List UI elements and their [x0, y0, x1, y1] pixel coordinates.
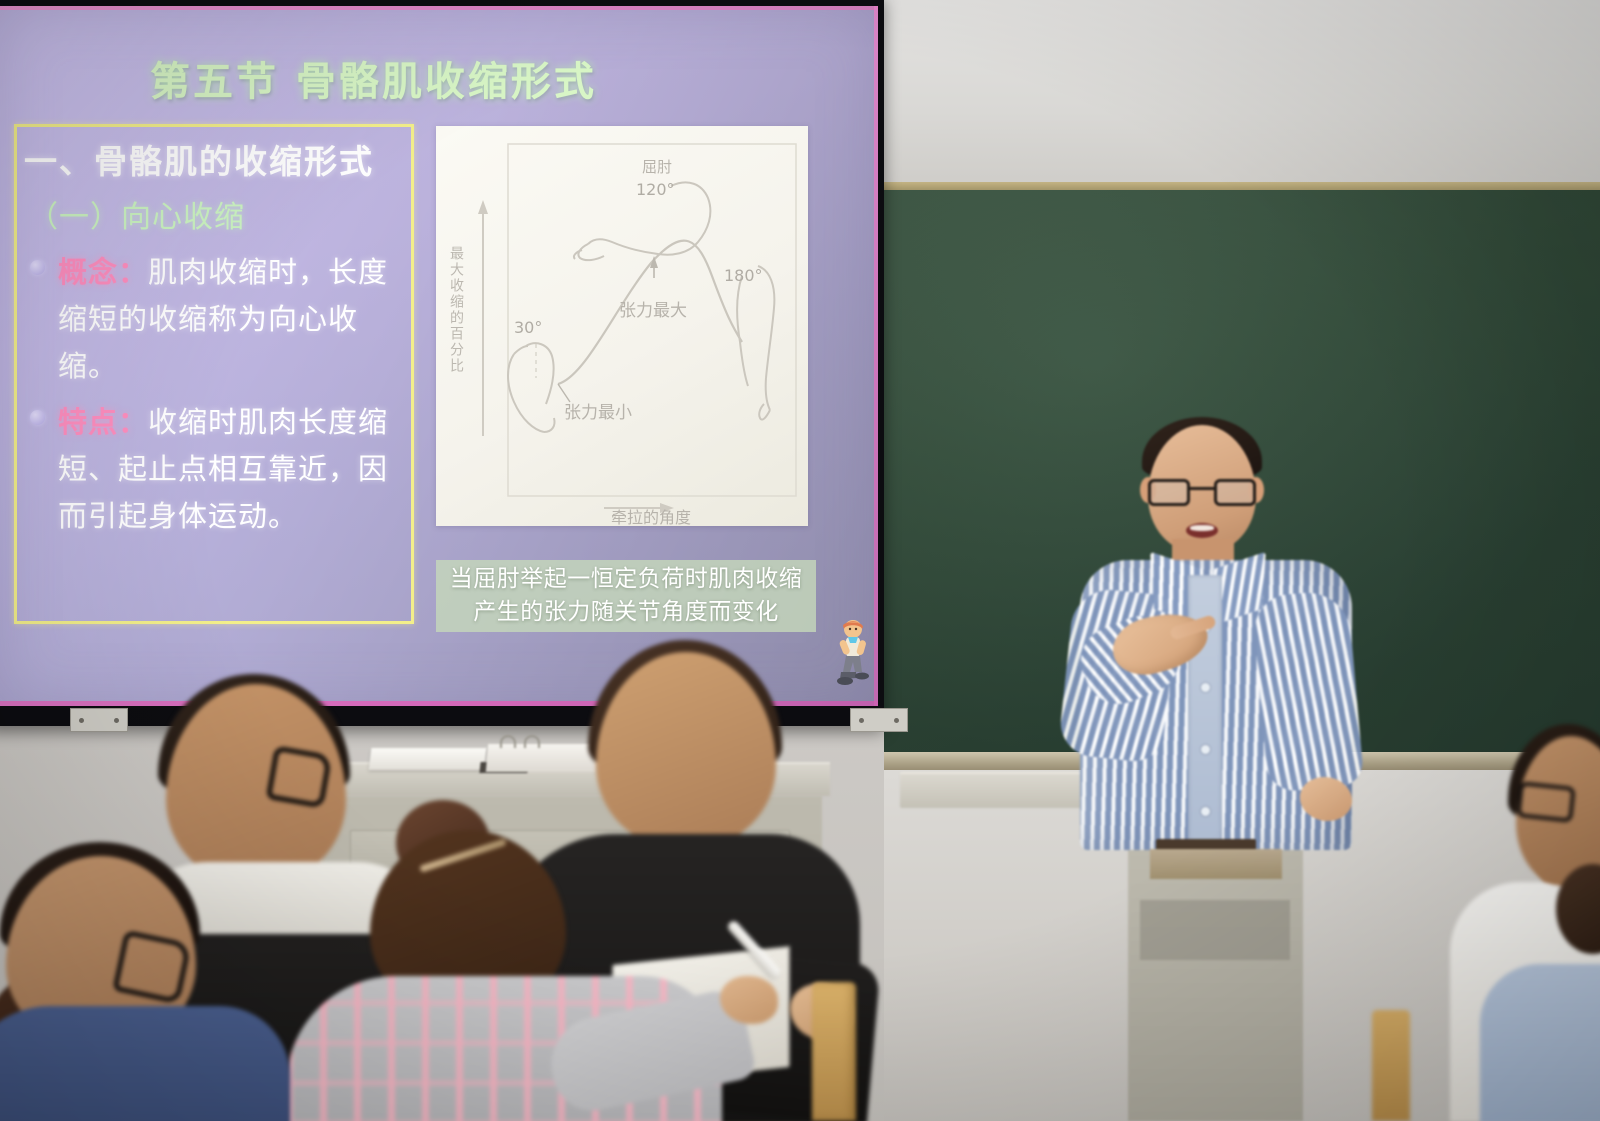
bullet-dot-icon — [30, 260, 45, 275]
wooden-chair-back — [812, 982, 856, 1121]
bullet-dot-icon — [30, 410, 45, 425]
classroom-photo: 第五节 骨骼肌收缩形式 一、骨骼肌的收缩形式 （一）向心收缩 概念：肌肉收缩时，… — [0, 0, 1600, 1121]
chart-x-axis-label: 牵拉的角度 — [611, 504, 691, 526]
lecturer-mouth — [1186, 523, 1218, 538]
shirt-button — [1201, 745, 1210, 754]
screen-bracket-left — [70, 708, 128, 732]
chart-annotation-180: 180° — [724, 266, 763, 285]
chart-annotation-max-tension: 张力最大 — [619, 296, 687, 321]
slide-subsection-heading: （一）向心收缩 — [28, 192, 245, 236]
chart-y-axis-label: 最大收缩的百分比 — [446, 246, 466, 374]
shirt-button — [1201, 807, 1210, 816]
wooden-chair-back — [1372, 1010, 1410, 1121]
binder-ring-icon — [524, 735, 540, 748]
chart-annotation-30: 30° — [514, 318, 542, 337]
lecturer-arm-left — [1252, 589, 1365, 793]
muscle-tension-chart: 屈肘 120° 180° 30° 张力最大 张力最小 最大收缩的百分比 牵拉的角… — [436, 126, 808, 526]
lecturer — [1060, 415, 1400, 845]
slide-caption-text: 当屈肘举起一恒定负荷时肌肉收缩产生的张力随关节角度而变化 — [436, 563, 816, 629]
eyeglasses-icon — [1148, 479, 1256, 507]
chart-annotation-flexion: 屈肘 — [642, 156, 672, 177]
slide-bullet-feature: 特点：收缩时肌肉长度缩短、起止点相互靠近，因而引起身体运动。 — [30, 399, 410, 540]
shirt-button — [1201, 683, 1210, 692]
eyeglasses-icon — [1516, 781, 1575, 823]
chart-annotation-min-tension: 张力最小 — [564, 398, 632, 423]
bullet-keyword: 概念： — [58, 255, 148, 289]
binder-ring-icon — [500, 735, 516, 748]
lecturer-trousers — [1150, 849, 1282, 879]
slide-bullet-concept: 概念：肌肉收缩时，长度缩短的收缩称为向心收缩。 — [30, 249, 410, 390]
bullet-keyword: 特点： — [58, 405, 148, 439]
wall-upper — [880, 0, 1600, 186]
slide-section-heading: 一、骨骼肌的收缩形式 — [24, 135, 414, 183]
slide-edge-top — [0, 6, 878, 10]
podium-shelf — [1140, 900, 1290, 960]
slide-title: 第五节 骨骼肌收缩形式 — [150, 49, 597, 107]
slide-caption-box: 当屈肘举起一恒定负荷时肌肉收缩产生的张力随关节角度而变化 — [436, 560, 816, 632]
chart-svg — [436, 126, 808, 526]
student-right-denim — [1490, 736, 1600, 1121]
lecturer-hand-left — [1300, 777, 1352, 821]
slide-edge-right — [874, 6, 878, 706]
chart-annotation-120: 120° — [636, 180, 675, 199]
student-left-blue — [0, 856, 300, 1121]
student-bun-striped — [300, 800, 720, 1121]
projected-slide: 第五节 骨骼肌收缩形式 一、骨骼肌的收缩形式 （一）向心收缩 概念：肌肉收缩时，… — [0, 6, 878, 706]
